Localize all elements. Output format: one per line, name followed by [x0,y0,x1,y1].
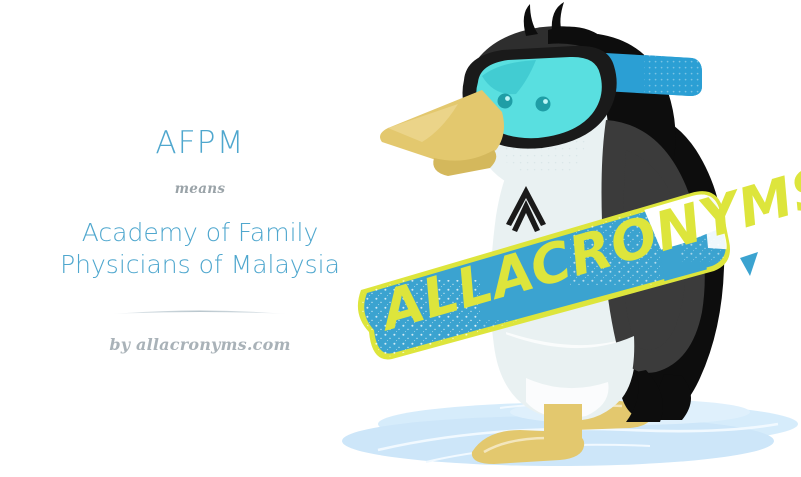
acronym-title: AFPM [155,128,244,159]
eye-right [536,97,551,112]
means-label: means [175,181,226,197]
penguin-illustration: ALLACRONYMS [330,0,801,477]
horizontal-rule-icon [110,307,290,317]
attribution-link[interactable]: by allacronyms.com [109,335,290,354]
penguin-beak [380,90,504,176]
definition-line-2: Physicians of Malaysia [35,249,365,281]
definition-line-1: Academy of Family [35,217,365,249]
hair-tuft-left [524,4,538,36]
eye-left [498,94,513,109]
definition-text: Academy of Family Physicians of Malaysia [35,217,365,281]
divider-container [110,307,290,317]
poster-canvas: AFPM means Academy of Family Physicians … [0,0,801,477]
